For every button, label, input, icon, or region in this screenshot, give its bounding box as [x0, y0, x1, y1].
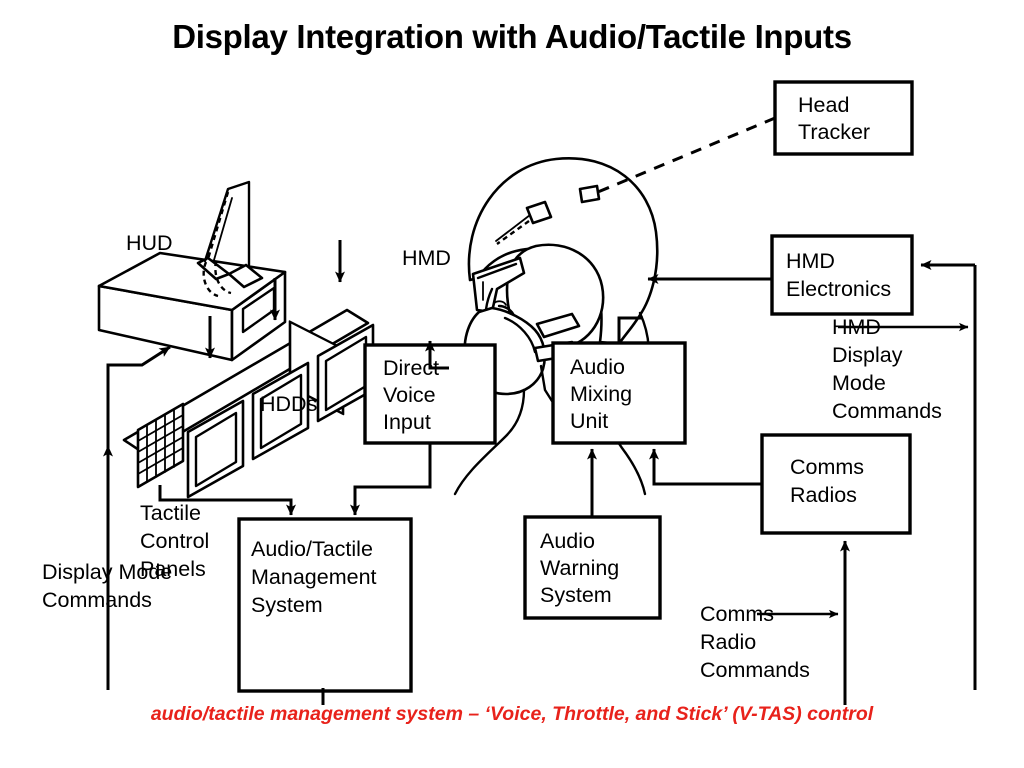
aws-line2: Warning	[540, 556, 619, 580]
head-tracker-line2: Tracker	[798, 120, 870, 144]
box-hmd-electronics[interactable]: HMD Electronics	[772, 236, 912, 314]
aws-line1: Audio	[540, 529, 595, 553]
amu-line2: Mixing	[570, 382, 632, 406]
aws-line3: System	[540, 583, 612, 607]
dvi-line2: Voice	[383, 383, 436, 407]
box-audio-tactile-management-system[interactable]: Audio/Tactile Management System	[239, 519, 411, 691]
hud-label: HUD	[126, 231, 173, 255]
comms-radios-line2: Radios	[790, 483, 857, 507]
hdmc-line4: Commands	[832, 399, 942, 423]
dmc-line1: Display Mode	[42, 560, 172, 584]
slide-caption: audio/tactile management system – ‘Voice…	[0, 703, 1024, 726]
hdds-label: HDDs	[260, 392, 317, 416]
atms-line2: Management	[251, 565, 377, 589]
amu-line3: Unit	[570, 409, 608, 433]
label-hmd-display-mode-commands: HMD Display Mode Commands	[832, 315, 942, 423]
tcp-line2: Control	[140, 529, 209, 553]
box-audio-warning-system[interactable]: Audio Warning System	[525, 517, 660, 618]
hdmc-line1: HMD	[832, 315, 881, 339]
diagram: HUD HDDs	[0, 60, 1024, 705]
dmc-line2: Commands	[42, 588, 152, 612]
slide-canvas: Display Integration with Audio/Tactile I…	[0, 0, 1024, 768]
hdd-screens	[138, 325, 373, 497]
conn-comms-radios-to-audio-mixing	[654, 449, 762, 484]
comms-radios-line1: Comms	[790, 455, 864, 479]
box-audio-mixing-unit[interactable]: Audio Mixing Unit	[553, 343, 685, 443]
hmd-electronics-line2: Electronics	[786, 277, 891, 301]
amu-line1: Audio	[570, 355, 625, 379]
hdmc-line3: Mode	[832, 371, 886, 395]
atms-line3: System	[251, 593, 323, 617]
page-title: Display Integration with Audio/Tactile I…	[0, 18, 1024, 56]
crc-line3: Commands	[700, 658, 810, 682]
box-head-tracker[interactable]: Head Tracker	[775, 82, 912, 154]
head-tracker-line1: Head	[798, 93, 849, 117]
tcp-line1: Tactile	[140, 501, 201, 525]
conn-head-tracker-to-helmet	[598, 118, 775, 192]
box-comms-radios[interactable]: Comms Radios	[762, 435, 910, 533]
hmd-electronics-line1: HMD	[786, 249, 835, 273]
hmd-label: HMD	[402, 246, 451, 270]
hdmc-line2: Display	[832, 343, 903, 367]
crc-line1: Comms	[700, 602, 774, 626]
hud-artwork	[99, 182, 285, 360]
conn-direct-voice-input-to-atms	[355, 443, 430, 515]
crc-line2: Radio	[700, 630, 756, 654]
atms-line1: Audio/Tactile	[251, 537, 373, 561]
dvi-line3: Input	[383, 410, 431, 434]
